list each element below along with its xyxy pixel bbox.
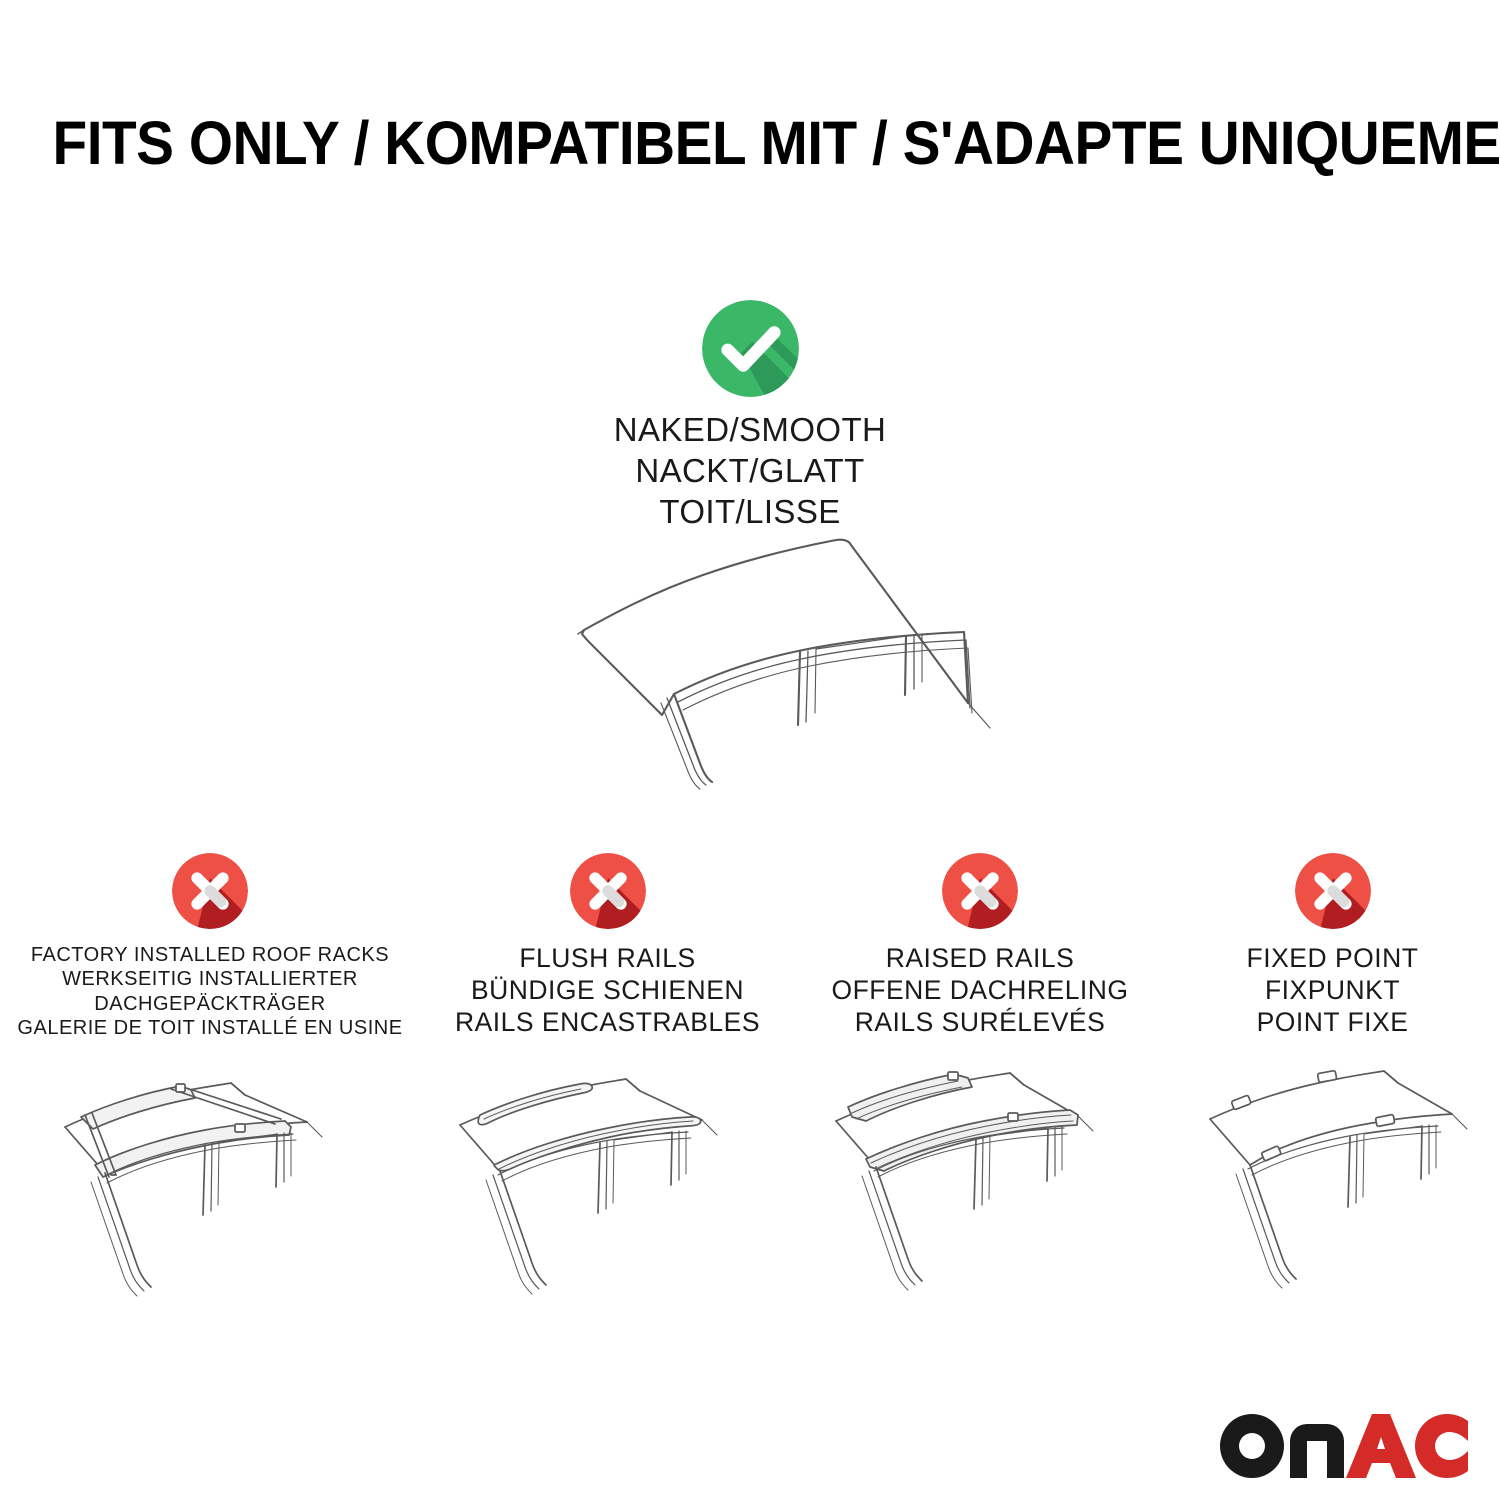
- incompatible-column-flush-rails: FLUSH RAILS BÜNDIGE SCHIENEN RAILS ENCAS…: [420, 853, 795, 1041]
- label-line-3: DACHGEPÄCKTRÄGER: [17, 992, 402, 1016]
- check-circle-icon: [702, 300, 799, 397]
- label-line-2: BÜNDIGE SCHIENEN: [455, 975, 760, 1007]
- compatible-labels: NAKED/SMOOTH NACKT/GLATT TOIT/LISSE: [614, 410, 887, 533]
- incompatible-column-factory-roof-racks: FACTORY INSTALLED ROOF RACKS WERKSEITIG …: [0, 853, 420, 1041]
- logo-letter-c: [1415, 1414, 1468, 1478]
- label-line-2: FIXPUNKT: [1247, 975, 1419, 1007]
- label-line-1: RAISED RAILS: [831, 943, 1128, 975]
- x-circle-icon: [942, 853, 1018, 929]
- logo-letter-a: [1346, 1414, 1416, 1478]
- car-roof-factory-racks-illustration: [45, 1065, 435, 1315]
- car-roof-raised-rails-illustration: [822, 1063, 1194, 1315]
- compatible-label-de: NACKT/GLATT: [614, 451, 887, 492]
- car-roof-flush-rails-illustration: [450, 1067, 810, 1315]
- logo-letter-o: [1220, 1414, 1284, 1478]
- label-line-3: RAILS SURÉLEVÉS: [831, 1007, 1128, 1039]
- label-line-3: POINT FIXE: [1247, 1007, 1419, 1039]
- label-line-2: WERKSEITIG INSTALLIERTER: [17, 967, 402, 991]
- x-circle-icon: [172, 853, 248, 929]
- car-roof-fixed-point-illustration: [1200, 1063, 1500, 1313]
- x-circle-icon: [1295, 853, 1371, 929]
- label-line-3: RAILS ENCASTRABLES: [455, 1007, 760, 1039]
- roof-illustrations-row: [0, 1055, 1500, 1315]
- incompatible-column-raised-rails: RAISED RAILS OFFENE DACHRELING RAILS SUR…: [795, 853, 1165, 1041]
- logo-letter-m: [1290, 1424, 1344, 1478]
- compatible-label-en: NAKED/SMOOTH: [614, 410, 887, 451]
- fitment-infographic: FITS ONLY / KOMPATIBEL MIT / S'ADAPTE UN…: [0, 0, 1500, 1500]
- incompatible-labels: FLUSH RAILS BÜNDIGE SCHIENEN RAILS ENCAS…: [455, 943, 760, 1038]
- label-line-1: FACTORY INSTALLED ROOF RACKS: [17, 943, 402, 967]
- fitment-group-compatible: NAKED/SMOOTH NACKT/GLATT TOIT/LISSE: [0, 300, 1500, 533]
- page-title: FITS ONLY / KOMPATIBEL MIT / S'ADAPTE UN…: [53, 108, 1448, 178]
- label-line-1: FLUSH RAILS: [455, 943, 760, 975]
- label-line-4: GALERIE DE TOIT INSTALLÉ EN USINE: [17, 1016, 402, 1040]
- incompatible-labels: FACTORY INSTALLED ROOF RACKS WERKSEITIG …: [17, 943, 402, 1041]
- fitment-group-incompatible: FACTORY INSTALLED ROOF RACKS WERKSEITIG …: [0, 853, 1500, 1041]
- incompatible-labels: FIXED POINT FIXPUNKT POINT FIXE: [1247, 943, 1419, 1038]
- x-circle-icon: [570, 853, 646, 929]
- label-line-1: FIXED POINT: [1247, 943, 1419, 975]
- incompatible-labels: RAISED RAILS OFFENE DACHRELING RAILS SUR…: [831, 943, 1128, 1038]
- car-roof-naked-smooth-illustration: [498, 522, 1026, 802]
- incompatible-column-fixed-point: FIXED POINT FIXPUNKT POINT FIXE: [1165, 853, 1500, 1041]
- omac-logo: [1220, 1414, 1468, 1478]
- label-line-2: OFFENE DACHRELING: [831, 975, 1128, 1007]
